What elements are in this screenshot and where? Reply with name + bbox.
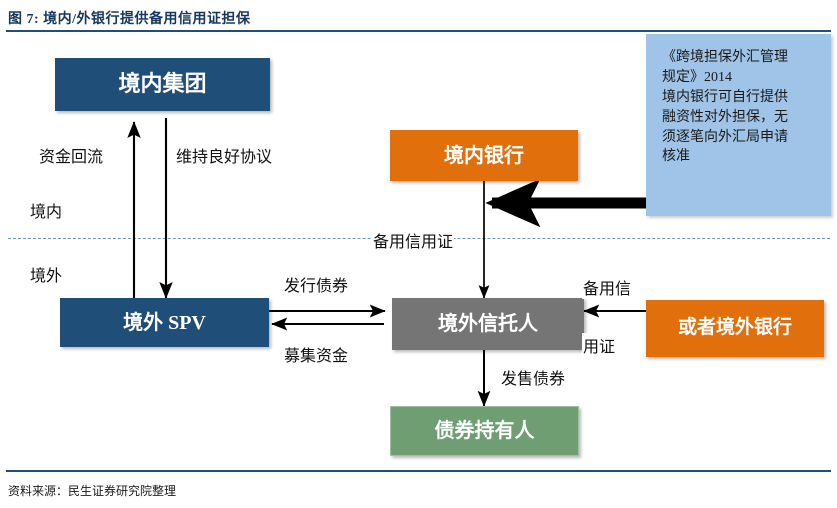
edge-label-issue-bond: 发行债券: [283, 272, 349, 296]
node-domestic-bank-label: 境内银行: [444, 145, 524, 167]
edge-label-sell-bond: 发售债券: [500, 365, 566, 389]
edge-label-raise-funds: 募集资金: [283, 342, 349, 366]
node-offshore-trustee[interactable]: 境外信托人: [392, 298, 584, 350]
edge-label-standby-lc-offshore-1: 备用信: [582, 275, 632, 299]
edge-label-standby-lc-onshore: 备用信用证: [372, 228, 454, 252]
regulation-note-box: 《跨境担保外汇管理 规定》2014 境内银行可自行提供 融资性对外担保，无 须逐…: [646, 34, 831, 216]
node-offshore-spv[interactable]: 境外 SPV: [60, 298, 269, 347]
regulation-note-line-5: 须逐笔向外汇局申请: [662, 128, 817, 148]
figure-canvas: 图 7: 境内/外银行提供备用信用证担保 境内 境外: [0, 0, 837, 508]
node-offshore-bank-label: 或者境外银行: [678, 318, 792, 339]
node-offshore-trustee-label: 境外信托人: [438, 313, 538, 335]
header-rule: [6, 30, 831, 32]
source-note: 资料来源：民生证券研究院整理: [8, 482, 176, 499]
regulation-note-line-1: 《跨境担保外汇管理: [662, 48, 817, 68]
edge-label-standby-lc-offshore-2: 用证: [582, 333, 616, 357]
region-label-offshore: 境外: [30, 262, 62, 286]
node-domestic-group[interactable]: 境内集团: [55, 58, 270, 111]
region-label-onshore: 境内: [30, 198, 62, 222]
regulation-note-line-6: 核准: [662, 147, 817, 167]
node-bondholders-label: 债券持有人: [435, 420, 535, 442]
regulation-note-line-3: 境内银行可自行提供: [662, 88, 817, 108]
node-domestic-group-label: 境内集团: [118, 72, 206, 96]
node-domestic-bank[interactable]: 境内银行: [390, 130, 578, 181]
node-offshore-spv-label: 境外 SPV: [123, 312, 206, 334]
node-offshore-bank[interactable]: 或者境外银行: [646, 300, 824, 357]
footer-rule: [6, 470, 831, 472]
node-bondholders[interactable]: 债券持有人: [390, 406, 579, 456]
regulation-note-line-2: 规定》2014: [662, 68, 817, 88]
regulation-note-line-4: 融资性对外担保，无: [662, 108, 817, 128]
edge-label-funds-return: 资金回流: [38, 143, 104, 167]
page-title: 图 7: 境内/外银行提供备用信用证担保: [8, 8, 251, 28]
edge-label-maintain-agreement: 维持良好协议: [175, 143, 273, 167]
